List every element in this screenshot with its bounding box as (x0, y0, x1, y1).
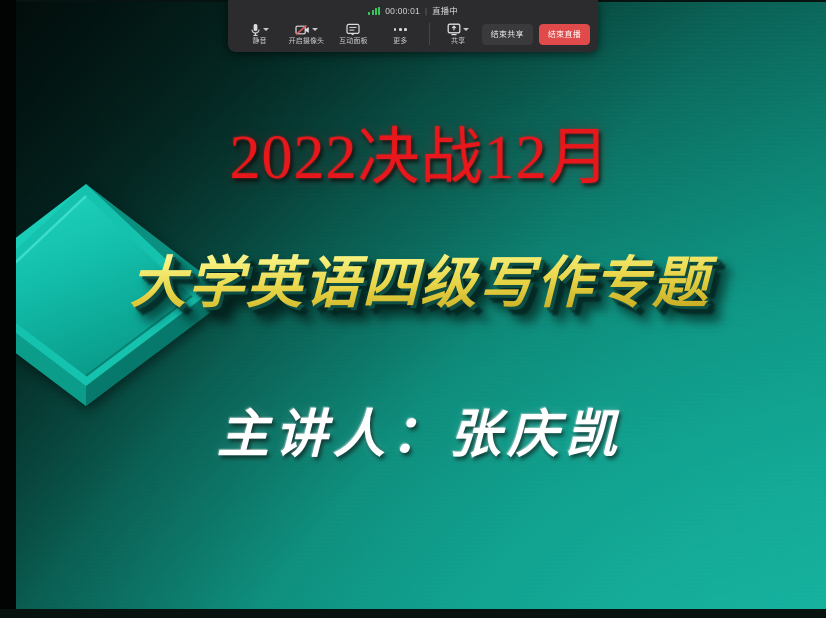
toolbar-controls-row: 静音 开启摄像头 (228, 18, 598, 52)
toolbar-status-row: 00:00:01 | 直播中 (228, 0, 598, 18)
camera-button[interactable]: 开启摄像头 (283, 19, 330, 49)
presentation-slide: 2022决战12月 大学英语四级写作专题 主讲人：张庆凯 (14, 2, 826, 610)
camera-caret-icon[interactable] (312, 28, 318, 31)
mute-caret-icon[interactable] (263, 28, 269, 31)
end-livestream-button[interactable]: 结束直播 (539, 24, 590, 45)
camera-off-icon (295, 24, 310, 36)
mute-label: 静音 (252, 38, 266, 46)
slide-title-red: 2022决战12月 (14, 106, 826, 196)
share-caret-icon[interactable] (463, 28, 469, 31)
interaction-panel-label: 互动面板 (339, 38, 367, 46)
share-button[interactable]: 共享 (435, 19, 482, 49)
share-label: 共享 (451, 38, 465, 46)
meeting-toolbar[interactable]: 00:00:01 | 直播中 静音 (228, 0, 598, 52)
live-status-label: 直播中 (432, 5, 458, 17)
frame-edge-left (0, 0, 16, 618)
more-label: 更多 (393, 38, 407, 46)
toolbar-divider (429, 23, 430, 45)
screen-share-icon (447, 23, 461, 36)
status-separator: | (425, 6, 427, 16)
interaction-panel-button[interactable]: 互动面板 (330, 19, 377, 49)
slide-subtitle-yellow: 大学英语四级写作专题 (14, 238, 826, 319)
elapsed-time-label: 00:00:01 (385, 6, 420, 16)
signal-bars-icon (368, 7, 380, 15)
more-button[interactable]: 更多 (377, 19, 424, 49)
camera-label: 开启摄像头 (289, 38, 325, 46)
frame-edge-bottom (0, 609, 826, 618)
mute-button[interactable]: 静音 (236, 19, 283, 49)
ellipsis-icon (394, 22, 407, 37)
microphone-icon (250, 23, 261, 37)
screen-capture: 2022决战12月 大学英语四级写作专题 主讲人：张庆凯 00:00:01 | … (0, 0, 826, 618)
slide-presenter-name: 主讲人：张庆凯 (14, 392, 826, 467)
end-share-button[interactable]: 结束共享 (482, 24, 533, 45)
comment-icon (346, 23, 360, 36)
